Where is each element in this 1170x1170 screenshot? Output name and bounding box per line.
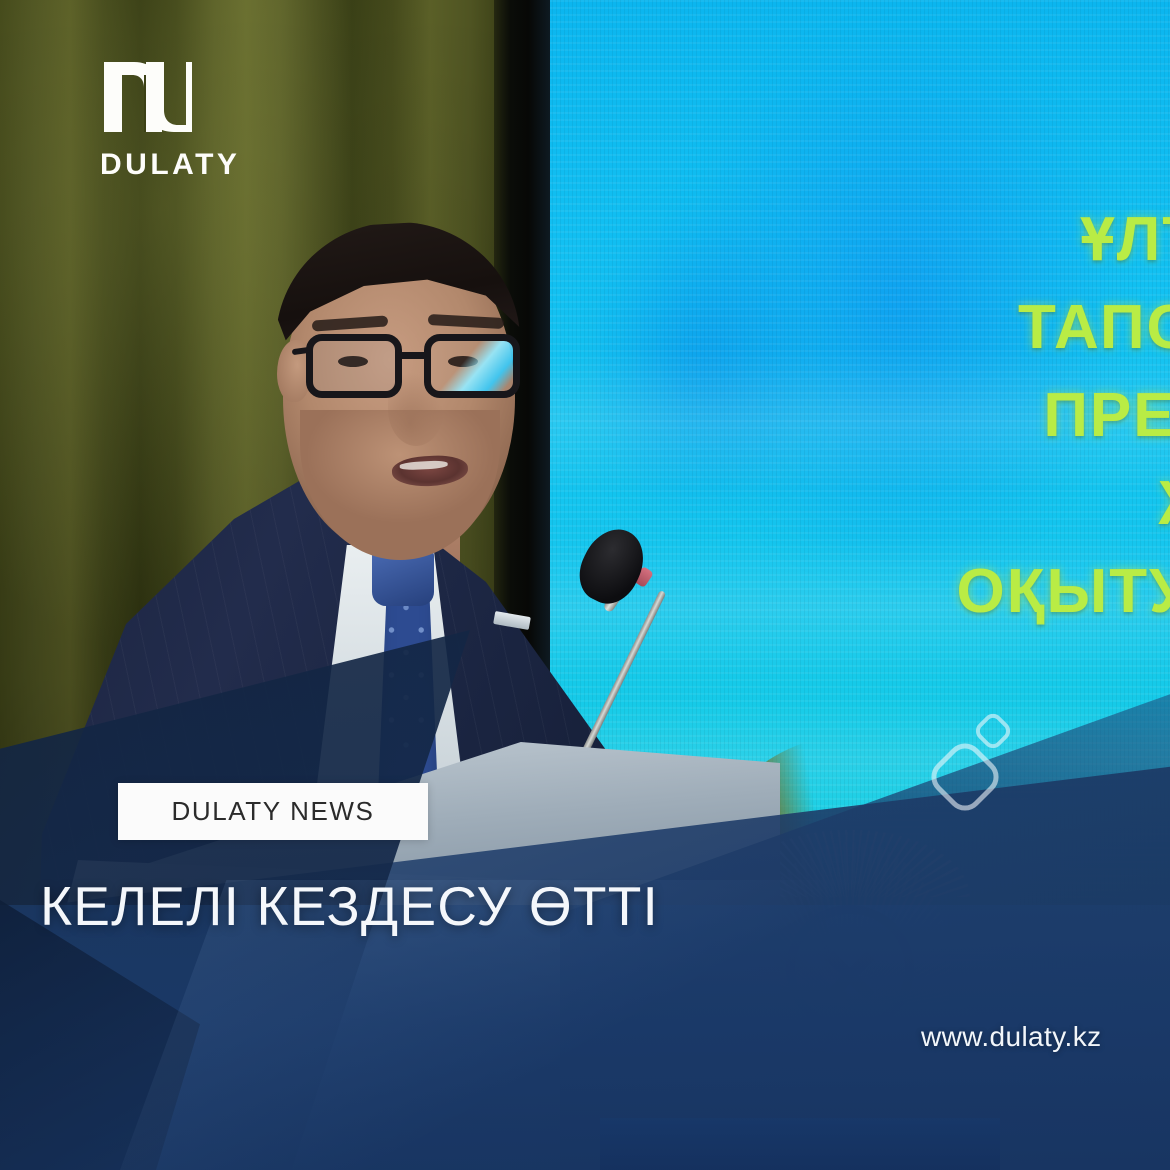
overlay-bottom-bar — [600, 1118, 1000, 1170]
website-url: www.dulaty.kz — [921, 1021, 1102, 1053]
news-badge: DULATY NEWS — [118, 783, 428, 840]
page-title: КЕЛЕЛІ КЕЗДЕСУ ӨТТІ — [40, 874, 659, 938]
brand-lockup: DULATY — [100, 58, 300, 182]
eyeglasses-icon — [300, 330, 536, 408]
eyeglass-lens-right — [424, 334, 520, 398]
dulaty-diamond-watermark-icon — [936, 712, 1022, 816]
eyeglass-lens-left — [306, 334, 402, 398]
social-news-card: ҰЛТТ ТАПСЫ ПРЕЗИ ЖО ОҚЫТУШ — [0, 0, 1170, 1170]
brand-name: DULATY — [100, 148, 300, 182]
watermark-diamond-small — [972, 710, 1014, 752]
news-badge-label: DULATY NEWS — [171, 796, 374, 827]
eyeglass-bridge — [399, 352, 427, 359]
dulaty-monogram-icon — [100, 58, 192, 136]
